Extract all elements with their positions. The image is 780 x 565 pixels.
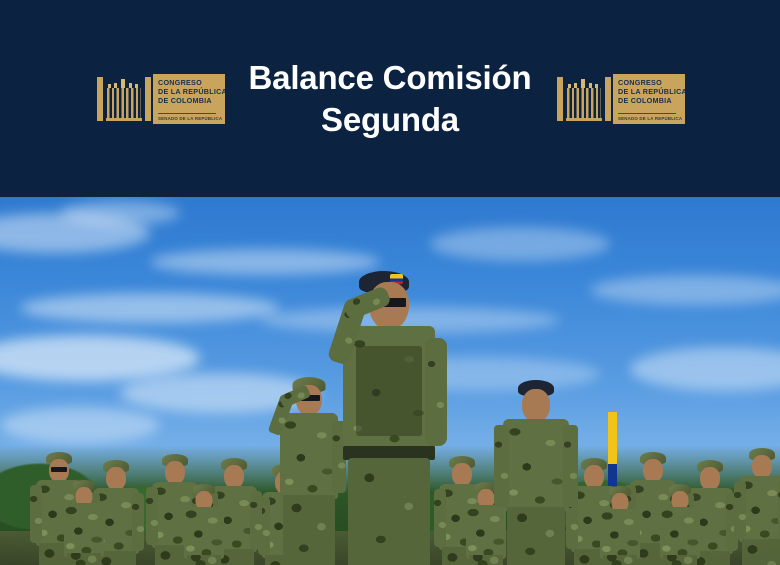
congreso-logo-left: CONGRESO DE LA REPÚBLICA DE COLOMBIA SEN…	[95, 74, 225, 124]
congreso-logo-wordmark: CONGRESO DE LA REPÚBLICA DE COLOMBIA SEN…	[613, 74, 685, 124]
logo-colonnade-base	[566, 118, 602, 121]
logo-line-3: DE COLOMBIA	[158, 96, 225, 105]
congreso-logo-wordmark: CONGRESO DE LA REPÚBLICA DE COLOMBIA SEN…	[153, 74, 225, 124]
logo-line-1: CONGRESO	[158, 78, 225, 87]
logo-colonnade-bars	[107, 88, 141, 121]
military-formation-photo	[0, 197, 780, 565]
soldier-figure	[656, 479, 704, 565]
logo-birds-icon	[107, 77, 141, 88]
commanding-officer-saluting	[330, 260, 448, 565]
page-title: Balance Comisión Segunda	[233, 57, 547, 141]
logo-pillar-right	[145, 77, 151, 121]
slide: CONGRESO DE LA REPÚBLICA DE COLOMBIA SEN…	[0, 0, 780, 565]
logo-birds-icon	[567, 77, 601, 88]
logo-subtitle: SENADO DE LA REPÚBLICA	[618, 116, 682, 121]
soldier-figure	[734, 443, 780, 565]
logo-line-2: DE LA REPÚBLICA	[158, 87, 225, 96]
logo-line-3: DE COLOMBIA	[618, 96, 685, 105]
logo-pillar-left	[557, 77, 563, 121]
soldier-figure	[60, 475, 108, 565]
logo-divider	[618, 113, 676, 114]
tactical-vest	[356, 346, 422, 436]
logo-colonnade-base	[106, 118, 142, 121]
congreso-logo-right: CONGRESO DE LA REPÚBLICA DE COLOMBIA SEN…	[555, 74, 685, 124]
logo-colonnade-bars	[567, 88, 601, 121]
page-title-wrap: Balance Comisión Segunda	[225, 57, 555, 141]
soldier-figure-right	[494, 373, 578, 565]
logo-subtitle: SENADO DE LA REPÚBLICA	[158, 116, 222, 121]
soldier-figure	[596, 481, 644, 565]
logo-line-2: DE LA REPÚBLICA	[618, 87, 685, 96]
capitol-colonnade-icon	[555, 74, 613, 124]
slide-header: CONGRESO DE LA REPÚBLICA DE COLOMBIA SEN…	[0, 0, 780, 197]
logo-pillar-right	[605, 77, 611, 121]
capitol-colonnade-icon	[95, 74, 153, 124]
logo-pillar-left	[97, 77, 103, 121]
logo-line-1: CONGRESO	[618, 78, 685, 87]
logo-divider	[158, 113, 216, 114]
soldier-figure	[180, 479, 228, 565]
